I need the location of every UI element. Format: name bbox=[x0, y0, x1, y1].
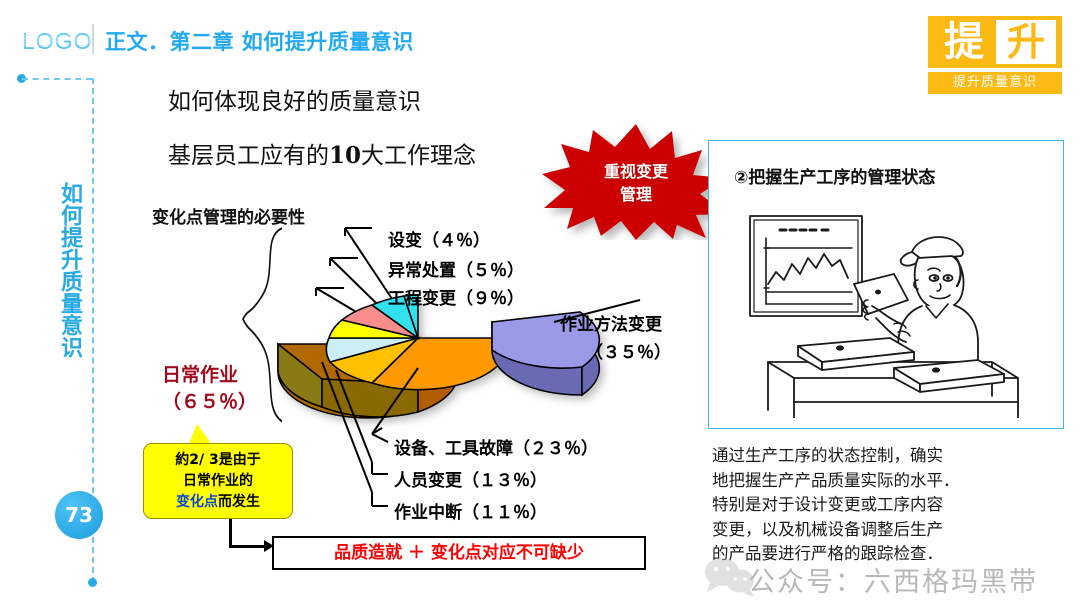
panel-body-line-1: 通过生产工序的状态控制，确实 bbox=[712, 444, 1068, 469]
brand-badge: 提 升 提升质量意识 bbox=[928, 16, 1062, 94]
callout-line-3-rest: 而发生 bbox=[218, 494, 260, 510]
slide-canvas: LOGO LOGO 正文．第二章 如何提升质量意识 提 升 提升质量意识 如何提… bbox=[0, 0, 1080, 608]
pie-label-zuoyefangfa-pct: （３５％） bbox=[586, 338, 671, 363]
pie-label-zuoyefangfa: 作业方法变更 bbox=[560, 310, 662, 335]
panel-body-line-3: 特别是对于设计变更或工序内容 bbox=[712, 493, 1068, 518]
pie-label-yichangchuzhi: 异常处置（５％） bbox=[388, 256, 524, 281]
pie-label-renyuanbiangeng: 人员变更（１３％） bbox=[394, 466, 547, 491]
header-title: 正文．第二章 如何提升质量意识 bbox=[105, 26, 414, 56]
chart-title: 变化点管理的必要性 bbox=[152, 203, 305, 228]
panel-body-text: 通过生产工序的状态控制，确实 地把握生产产品质量实际的水平． 特别是对于设计变更… bbox=[712, 444, 1068, 567]
conclusion-box: 品质造就 ＋ 变化点对应不可缺少 bbox=[272, 536, 646, 570]
badge-subtitle: 提升质量意识 bbox=[928, 72, 1062, 94]
page-number-badge: 73 bbox=[55, 491, 103, 539]
header-divider bbox=[92, 24, 94, 54]
pie-group-label-daily-line1: 日常作业 bbox=[162, 364, 238, 386]
heading-line-2-number: 10 bbox=[329, 142, 361, 169]
pie-label-shebian: 设变（４％） bbox=[388, 226, 490, 251]
rail-elbow-line bbox=[22, 78, 92, 80]
callout-connector-arrow-icon bbox=[229, 545, 265, 548]
heading-line-2: 基层员工应有的10大工作理念 bbox=[168, 136, 476, 170]
callout-line-3: 变化点而发生 bbox=[144, 492, 292, 513]
pie-group-label-daily: 日常作业（６５％） bbox=[162, 362, 257, 416]
badge-char-1: 提 bbox=[936, 17, 992, 67]
panel-body-line-2: 地把握生产产品质量实际的水平． bbox=[712, 469, 1068, 494]
worker-inspecting-chart-illustration bbox=[742, 196, 1032, 418]
callout-line-3-highlight: 变化点 bbox=[176, 494, 218, 510]
heading-line-2-prefix: 基层员工应有的 bbox=[168, 143, 329, 169]
callout-box: 約2/ 3是由于 日常作业的 变化点而发生 bbox=[143, 443, 293, 519]
callout-line-1: 約2/ 3是由于 bbox=[144, 450, 292, 471]
starburst-line-1: 重视变更 bbox=[541, 160, 731, 183]
heading-line-2-suffix: 大工作理念 bbox=[361, 143, 476, 169]
pie-label-zuoyezhongduan: 作业中断（１１％） bbox=[394, 498, 547, 523]
watermark-text: 公众号：六西格玛黑带 bbox=[748, 560, 1038, 599]
starburst-line-2: 管理 bbox=[541, 183, 731, 206]
callout-line-2: 日常作业的 bbox=[144, 471, 292, 492]
pie-group-label-daily-line2: （６５％） bbox=[162, 391, 257, 413]
rail-dot-bottom-icon bbox=[88, 578, 97, 587]
starburst-text: 重视变更 管理 bbox=[541, 160, 731, 206]
panel-body-line-4: 变更，以及机械设备调整后生产 bbox=[712, 518, 1068, 543]
logo-reflection: LOGO bbox=[22, 30, 92, 50]
sidebar-vertical-title: 如何提升质量意识 bbox=[48, 182, 82, 358]
pie-label-shebeigongju: 设备、工具故障（２３％） bbox=[394, 434, 598, 459]
callout-connector-stem bbox=[229, 519, 232, 547]
illustration-panel-title: ②把握生产工序的管理状态 bbox=[734, 163, 935, 188]
heading-line-1: 如何体现良好的质量意识 bbox=[168, 82, 421, 116]
badge-char-2: 升 bbox=[996, 18, 1056, 66]
pie-label-gongchengbiangeng: 工程变更（９％） bbox=[388, 284, 524, 309]
